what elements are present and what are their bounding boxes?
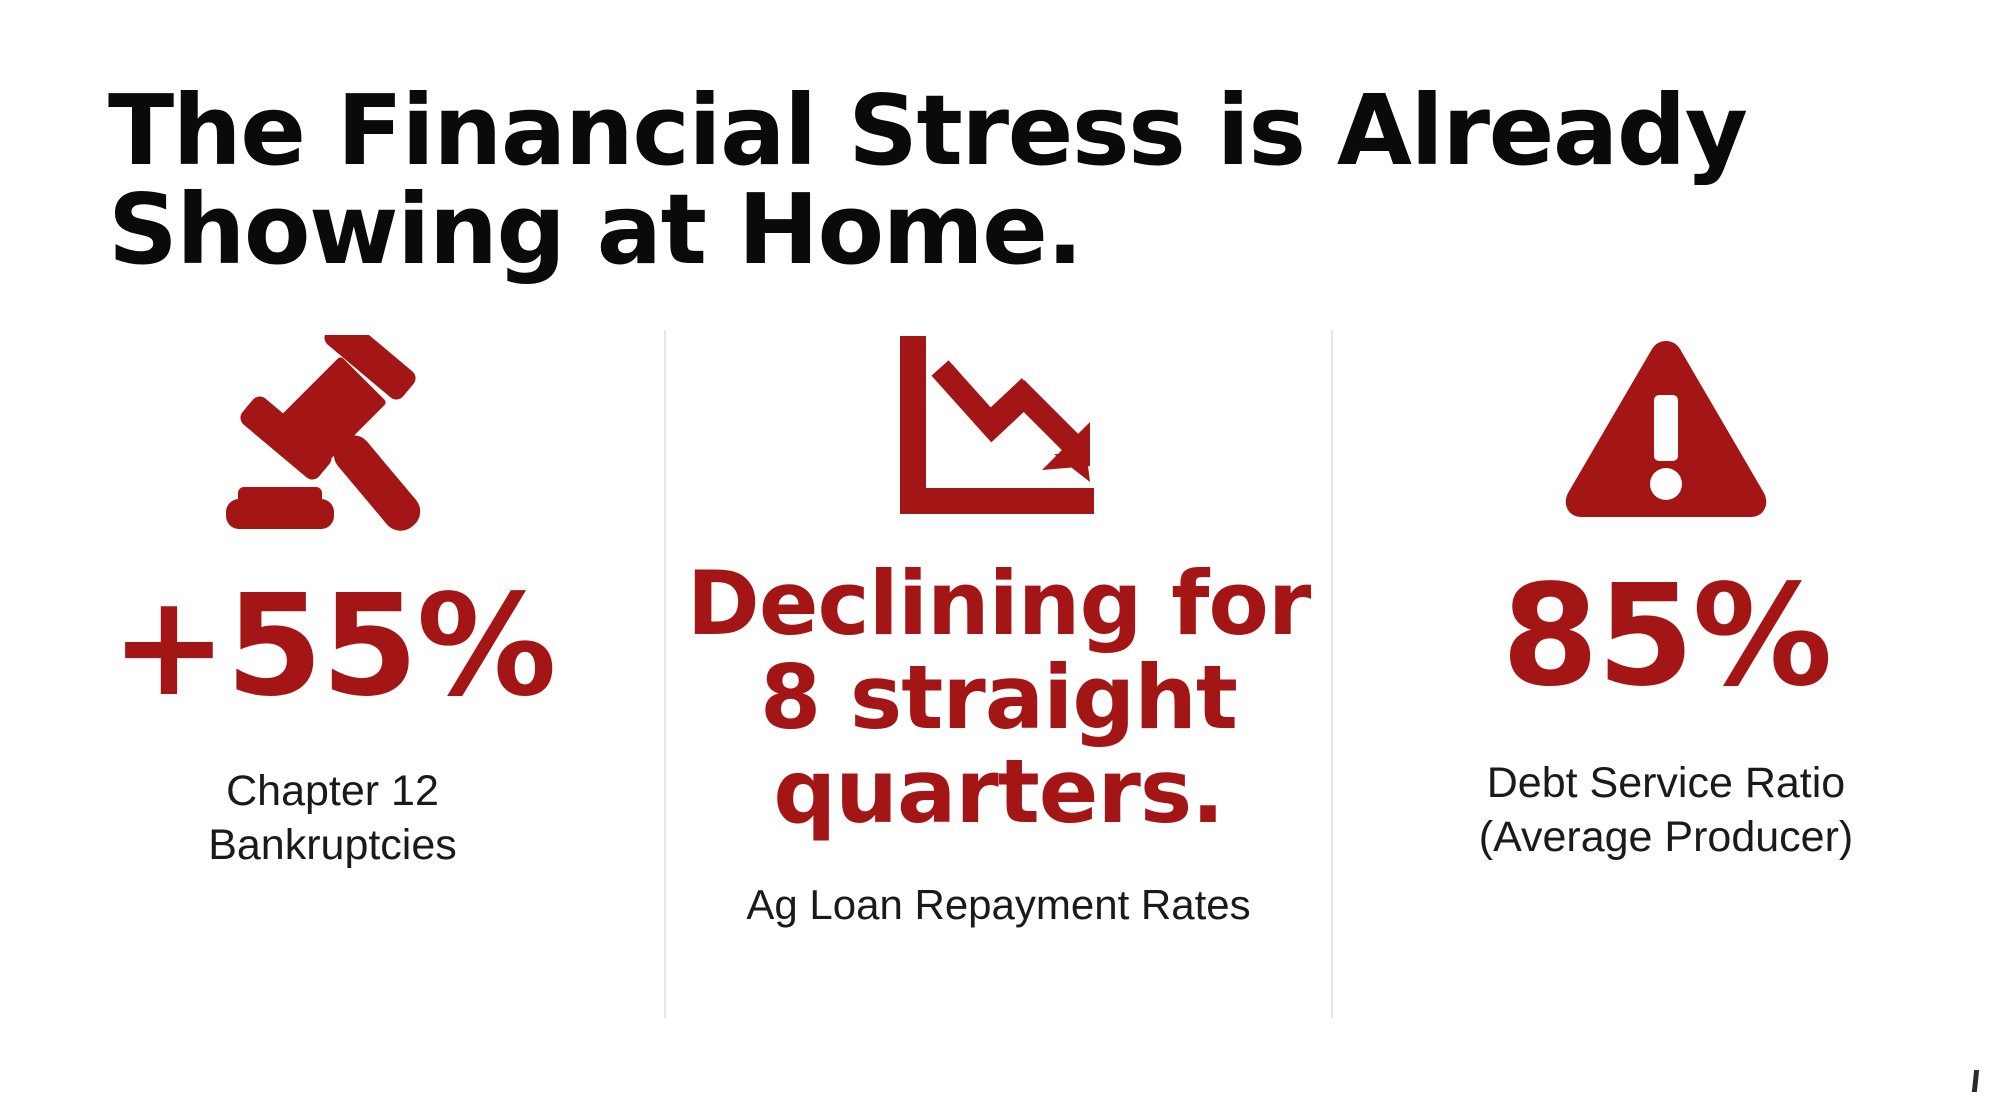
- page-title: The Financial Stress is Already Showing …: [108, 82, 1828, 280]
- corner-watermark: [1972, 1070, 1979, 1092]
- stat-column-loan-repayment: Declining for 8 straight quarters. Ag Lo…: [665, 320, 1332, 932]
- stat-value-bankruptcies: +55%: [110, 577, 554, 717]
- stats-columns: +55% Chapter 12 Bankruptcies: [0, 320, 2000, 1020]
- gavel-icon: [208, 330, 458, 545]
- stat-value-debt-service: 85%: [1501, 567, 1830, 707]
- stat-column-bankruptcies: +55% Chapter 12 Bankruptcies: [0, 320, 665, 873]
- stat-caption-debt-service: Debt Service Ratio (Average Producer): [1479, 757, 1853, 865]
- stat-caption-bankruptcies: Chapter 12 Bankruptcies: [208, 765, 457, 873]
- slide-root: The Financial Stress is Already Showing …: [0, 0, 2000, 1116]
- stat-caption-loan-repayment: Ag Loan Repayment Rates: [746, 879, 1250, 932]
- stat-value-loan-repayment: Declining for 8 straight quarters.: [687, 557, 1310, 839]
- declining-chart-icon: [894, 320, 1104, 535]
- stat-column-debt-service: 85% Debt Service Ratio (Average Producer…: [1332, 320, 2000, 865]
- warning-triangle-icon: [1560, 320, 1772, 535]
